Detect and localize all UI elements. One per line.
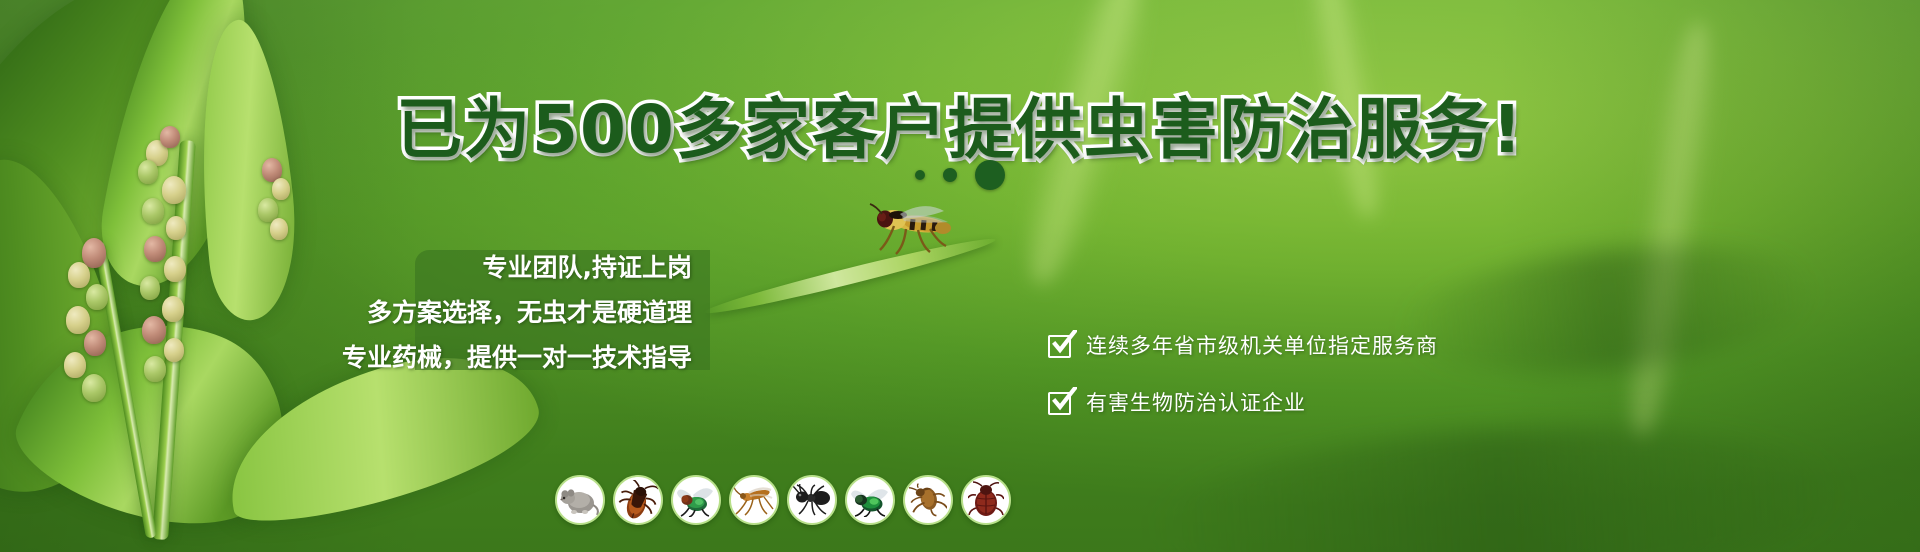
checkbox-checked-icon [1048, 389, 1074, 415]
dot-large-icon [975, 160, 1005, 190]
checkbox-checked-icon [1048, 332, 1074, 358]
list-item: 有害生物防治认证企业 [1048, 387, 1438, 417]
ant-icon[interactable] [787, 475, 837, 525]
feature-panel-line-2: 多方案选择，无虫才是硬道理 [367, 293, 692, 329]
credential-label: 有害生物防治认证企业 [1086, 387, 1306, 417]
mosquito-icon[interactable] [729, 475, 779, 525]
pest-types-row [555, 475, 1011, 525]
dot-medium-icon [943, 168, 957, 182]
page-title: 已为500多家客户提供虫害防治服务! [0, 76, 1920, 172]
cockroach-icon[interactable] [613, 475, 663, 525]
dot-small-icon [915, 170, 925, 180]
greenbottle-fly-icon[interactable] [845, 475, 895, 525]
flea-icon[interactable] [903, 475, 953, 525]
feature-panel-text: 专业团队,持证上岗 多方案选择，无虫才是硬道理 专业药械，提供一对一技术指导 [330, 252, 710, 370]
hoverfly-icon [848, 198, 960, 262]
feature-panel-line-1: 专业团队,持证上岗 [483, 248, 693, 284]
list-item: 连续多年省市级机关单位指定服务商 [1048, 330, 1438, 360]
feature-panel-line-3: 专业药械，提供一对一技术指导 [342, 338, 692, 374]
pest-control-banner: 已为500多家客户提供虫害防治服务! 专业团队,持证上岗 多方案选择，无虫才是硬… [0, 0, 1920, 552]
page-title-text: 已为500多家客户提供虫害防治服务! [396, 91, 1524, 168]
bedbug-icon[interactable] [961, 475, 1011, 525]
housefly-icon[interactable] [671, 475, 721, 525]
credentials-list: 连续多年省市级机关单位指定服务商 有害生物防治认证企业 [1048, 330, 1438, 417]
credential-label: 连续多年省市级机关单位指定服务商 [1086, 330, 1438, 360]
decorative-dots [0, 160, 1920, 190]
mouse-icon[interactable] [555, 475, 605, 525]
